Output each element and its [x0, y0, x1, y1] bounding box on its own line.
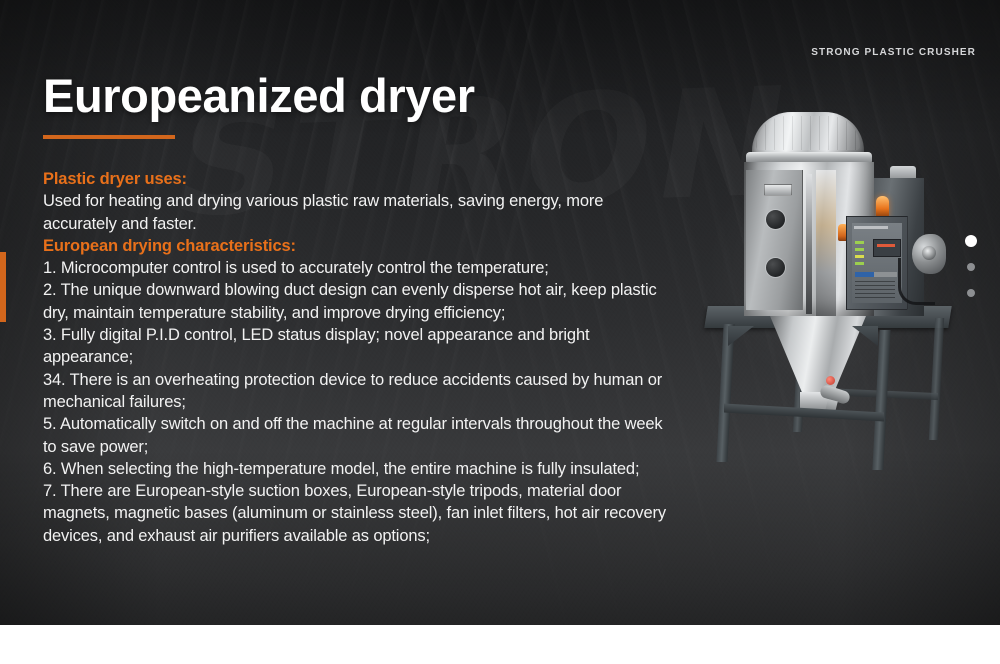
product-image-dryer: [700, 108, 956, 456]
nameplate: [764, 184, 792, 196]
feature-item: 1. Microcomputer control is used to accu…: [43, 257, 673, 279]
title-underline: [43, 135, 175, 139]
inspection-panel: [746, 170, 803, 310]
feature-item: 6. When selecting the high-temperature m…: [43, 458, 673, 480]
uses-label: Plastic dryer uses:: [43, 168, 673, 190]
features-label: European drying characteristics:: [43, 235, 673, 257]
left-accent-bar: [0, 252, 6, 322]
status-led-1: [855, 241, 864, 244]
promo-banner: STRONG STRONG PLASTIC CRUSHER Europeaniz…: [0, 0, 1000, 625]
control-keypad: [855, 272, 897, 277]
heater-rod: [806, 174, 812, 314]
feature-item: 2. The unique downward blowing duct desi…: [43, 279, 673, 324]
status-led-3: [855, 255, 864, 258]
feature-item: 3. Fully digital P.I.D control, LED stat…: [43, 324, 673, 369]
feature-item: 5. Automatically switch on and off the m…: [43, 413, 673, 458]
status-led-4: [855, 262, 864, 265]
sight-port-upper: [766, 210, 785, 229]
sight-port-lower: [766, 258, 785, 277]
control-panel-brand: [854, 226, 888, 229]
temperature-readout: [873, 239, 901, 257]
indicator-lamp-tower: [876, 196, 889, 217]
page-bottom-strip: [0, 625, 1000, 664]
dome-ribbing: [756, 116, 860, 150]
page-title: Europeanized dryer: [43, 68, 475, 124]
description-block: Plastic dryer uses: Used for heating and…: [43, 168, 673, 547]
status-led-2: [855, 248, 864, 251]
outlet-indicator: [826, 376, 835, 385]
power-cable: [898, 258, 935, 305]
sight-glass-column: [816, 170, 836, 316]
control-panel-vent: [855, 281, 895, 299]
feature-item: 7. There are European-style suction boxe…: [43, 480, 673, 547]
brand-kicker: STRONG PLASTIC CRUSHER: [736, 46, 976, 60]
uses-text: Used for heating and drying various plas…: [43, 190, 673, 235]
feature-item: 34. There is an overheating protection d…: [43, 369, 673, 414]
